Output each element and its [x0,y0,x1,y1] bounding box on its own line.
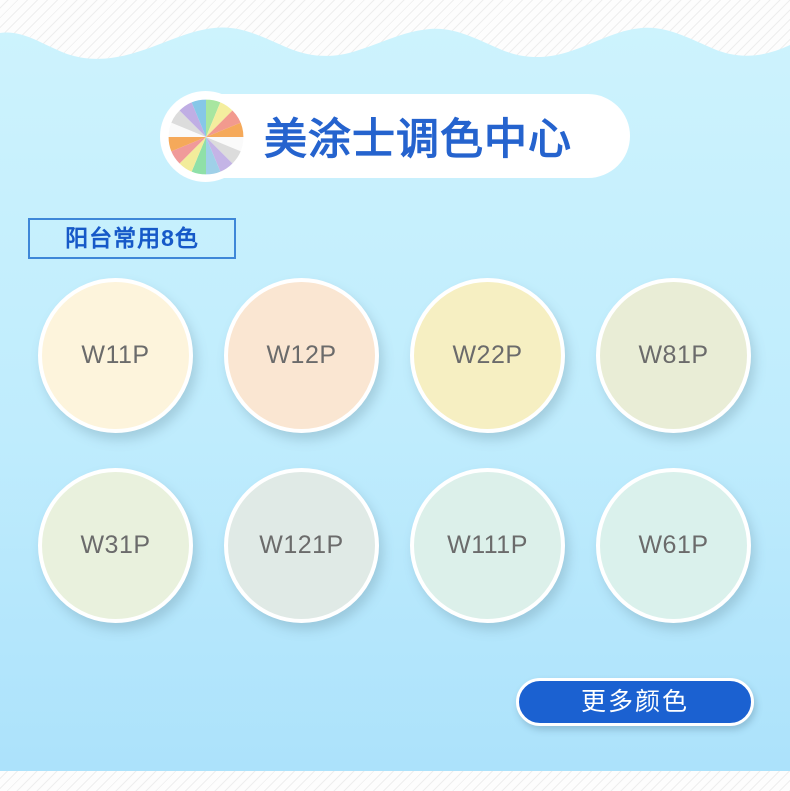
section-label-text: 阳台常用8色 [65,227,199,250]
swatch-label: W12P [266,343,336,368]
swatch-w61p[interactable]: W61P [596,468,751,623]
swatch-label: W22P [452,343,522,368]
color-swatch-grid: W11P W12P W22P W81P W31P W121P W111P [0,278,790,658]
swatch-label: W111P [447,533,528,558]
swatch-w111p[interactable]: W111P [410,468,565,623]
swatch-label: W11P [81,343,149,368]
more-colors-label: 更多颜色 [581,690,689,715]
page-root: 美涂士调色中心 阳台常用8色 W11P W12P W22P W81P W31P [0,0,790,791]
swatch-label: W121P [259,533,343,558]
page-title: 美涂士调色中心 [264,94,572,178]
swatch-w121p[interactable]: W121P [224,468,379,623]
swatch-row-2: W31P W121P W111P W61P [0,468,790,658]
swatch-w11p[interactable]: W11P [38,278,193,433]
section-label-box: 阳台常用8色 [28,218,236,259]
swatch-label: W31P [80,533,150,558]
color-wheel-icon [160,91,251,182]
more-colors-button[interactable]: 更多颜色 [516,678,754,726]
swatch-label: W81P [638,343,708,368]
swatch-w81p[interactable]: W81P [596,278,751,433]
swatch-w31p[interactable]: W31P [38,468,193,623]
bottom-hatch-strip [0,771,790,791]
swatch-w12p[interactable]: W12P [224,278,379,433]
swatch-label: W61P [638,533,708,558]
swatch-w22p[interactable]: W22P [410,278,565,433]
swatch-row-1: W11P W12P W22P W81P [0,278,790,468]
